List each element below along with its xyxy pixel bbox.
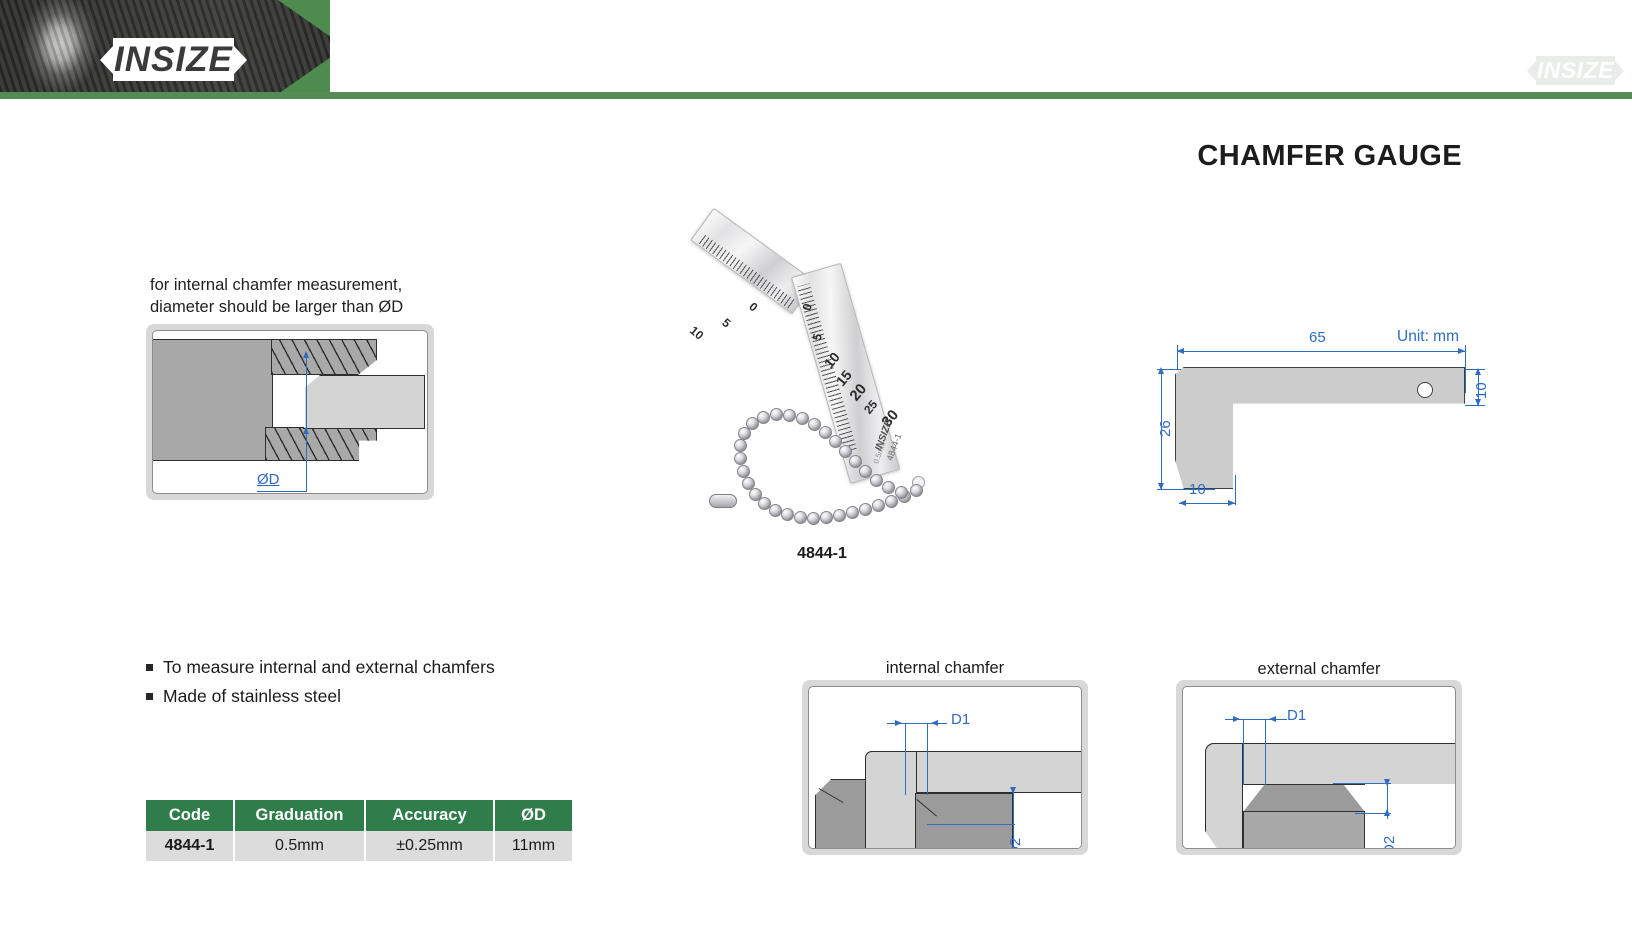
internal-chamfer-caption: internal chamfer bbox=[802, 659, 1088, 678]
d2-arrow-top bbox=[1010, 787, 1016, 794]
part-hole bbox=[1417, 382, 1433, 398]
feature-list: To measure internal and external chamfer… bbox=[146, 656, 616, 714]
page-title: CHAMFER GAUGE bbox=[1197, 140, 1462, 173]
dim-65-label: 65 bbox=[1309, 329, 1326, 346]
dim-26-label: 26 bbox=[1157, 420, 1174, 437]
external-chamfer-diagram: D1 D2 bbox=[1176, 680, 1462, 855]
d2-label: D2 bbox=[1381, 836, 1398, 849]
specification-table: Code Graduation Accuracy ØD 4844-1 0.5mm… bbox=[146, 800, 572, 861]
note-line-2: diameter should be larger than ØD bbox=[150, 296, 480, 318]
insize-logo-text: INSIZE bbox=[114, 40, 233, 79]
bullet-square-icon bbox=[146, 693, 153, 700]
short-arm-tick-5: 5 bbox=[719, 315, 733, 330]
internal-measurement-note: for internal chamfer measurement, diamet… bbox=[150, 274, 480, 318]
d1-arrow-left bbox=[895, 720, 902, 726]
hatched-section-lower bbox=[265, 427, 377, 461]
gauge-vertical-leg bbox=[865, 751, 917, 849]
d1-label: D1 bbox=[1287, 707, 1306, 724]
cell-code: 4844-1 bbox=[146, 831, 234, 861]
diagram-canvas: D1 D2 bbox=[1182, 686, 1456, 849]
gauge-tip bbox=[303, 375, 425, 429]
od-dimension-line bbox=[306, 353, 307, 491]
watermark-left-arrow-icon bbox=[1527, 61, 1536, 81]
dim-10-foot-arrow-left bbox=[1179, 500, 1186, 506]
workpiece-external-body bbox=[1243, 811, 1365, 849]
product-photo: 10 5 0 0 5 10 15 20 25 30 INSIZE 4844-1 … bbox=[672, 262, 972, 537]
dim-65-line bbox=[1177, 351, 1465, 352]
d1-arrow-right bbox=[931, 720, 938, 726]
d2-ext-bottom bbox=[1355, 813, 1391, 814]
od-dimension-label: ØD bbox=[257, 471, 280, 488]
watermark-wordmark: INSIZE bbox=[1536, 56, 1615, 85]
table-header-row: Code Graduation Accuracy ØD bbox=[146, 800, 572, 831]
internal-chamfer-measurement-diagram: ØD bbox=[146, 324, 434, 500]
od-arrow-upper bbox=[303, 351, 309, 358]
dim-10-foot-line bbox=[1179, 503, 1235, 504]
hatched-section-upper bbox=[271, 339, 377, 375]
d2-ext-bottom bbox=[927, 824, 1015, 825]
d1-arrow-left bbox=[1233, 716, 1240, 722]
chain-clasp bbox=[709, 494, 737, 508]
d1-ext-left bbox=[1243, 719, 1244, 785]
workpiece-external bbox=[1243, 784, 1365, 812]
insize-watermark-logo: INSIZE bbox=[1527, 56, 1624, 85]
feature-label: To measure internal and external chamfer… bbox=[163, 656, 495, 679]
chamfer-gap bbox=[273, 375, 305, 427]
logo-right-arrow-icon bbox=[233, 45, 247, 75]
dim-10-foot-arrow-right bbox=[1228, 500, 1235, 506]
bullet-square-icon bbox=[146, 664, 153, 671]
diagram-canvas: ØD bbox=[152, 330, 428, 494]
open-area bbox=[1365, 784, 1456, 849]
column-header-accuracy: Accuracy bbox=[365, 800, 494, 831]
product-photo-caption: 4844-1 bbox=[672, 545, 972, 563]
workpiece-right bbox=[915, 793, 1013, 849]
insize-wordmark: INSIZE bbox=[113, 38, 234, 81]
note-line-1: for internal chamfer measurement, bbox=[150, 274, 480, 296]
od-leader-line bbox=[257, 491, 307, 492]
d2-ext-top bbox=[1333, 783, 1391, 784]
d1-ext-left bbox=[905, 723, 906, 795]
dim-65-arrow-right bbox=[1458, 348, 1465, 354]
feature-label: Made of stainless steel bbox=[163, 685, 341, 708]
internal-chamfer-diagram: D1 D2 bbox=[802, 680, 1088, 855]
dim-26-ext-bottom bbox=[1157, 489, 1215, 490]
dim-65-ext-left bbox=[1177, 345, 1178, 369]
dim-10-thick-ext-bottom bbox=[1465, 405, 1485, 406]
d1-arrow-right bbox=[1269, 716, 1276, 722]
header-white-area bbox=[330, 0, 1632, 92]
workpiece-body bbox=[152, 339, 273, 461]
short-arm-tick-10: 10 bbox=[687, 323, 706, 342]
header-green-rule bbox=[0, 92, 1632, 99]
dim-10-thick-label: 10 bbox=[1473, 382, 1490, 399]
unit-label: Unit: mm bbox=[1397, 328, 1459, 346]
insize-watermark-text: INSIZE bbox=[1537, 57, 1614, 83]
d2-label: D2 bbox=[1007, 838, 1024, 849]
dim-10-foot-ext bbox=[1235, 475, 1236, 505]
gauge-vertical-leg bbox=[1205, 743, 1243, 849]
list-item: Made of stainless steel bbox=[146, 685, 616, 708]
logo-left-arrow-icon bbox=[100, 45, 114, 75]
od-arrow-lower bbox=[303, 427, 309, 434]
short-arm-tick-0: 0 bbox=[746, 299, 760, 314]
dim-26-ext-top bbox=[1157, 369, 1181, 370]
diagram-canvas: D1 D2 bbox=[808, 686, 1082, 849]
dim-10-thick-ext-top bbox=[1465, 369, 1485, 370]
list-item: To measure internal and external chamfer… bbox=[146, 656, 616, 679]
column-header-od: ØD bbox=[494, 800, 572, 831]
table-row: 4844-1 0.5mm ±0.25mm 11mm bbox=[146, 831, 572, 861]
external-chamfer-caption: external chamfer bbox=[1176, 660, 1462, 679]
dim-10-foot-label: 10 bbox=[1189, 481, 1206, 498]
d1-ext-right bbox=[927, 723, 928, 795]
d1-ext-right bbox=[1265, 719, 1266, 785]
cell-accuracy: ±0.25mm bbox=[365, 831, 494, 861]
d1-label: D1 bbox=[951, 711, 970, 728]
cell-graduation: 0.5mm bbox=[234, 831, 365, 861]
dim-65-arrow-left bbox=[1177, 348, 1184, 354]
technical-drawing: Unit: mm 65 26 10 10 bbox=[1145, 325, 1615, 515]
cell-od: 11mm bbox=[494, 831, 572, 861]
short-arm-ticks bbox=[699, 235, 796, 310]
column-header-code: Code bbox=[146, 800, 234, 831]
insize-logo[interactable]: INSIZE bbox=[100, 38, 247, 81]
watermark-right-arrow-icon bbox=[1615, 61, 1624, 81]
column-header-graduation: Graduation bbox=[234, 800, 365, 831]
